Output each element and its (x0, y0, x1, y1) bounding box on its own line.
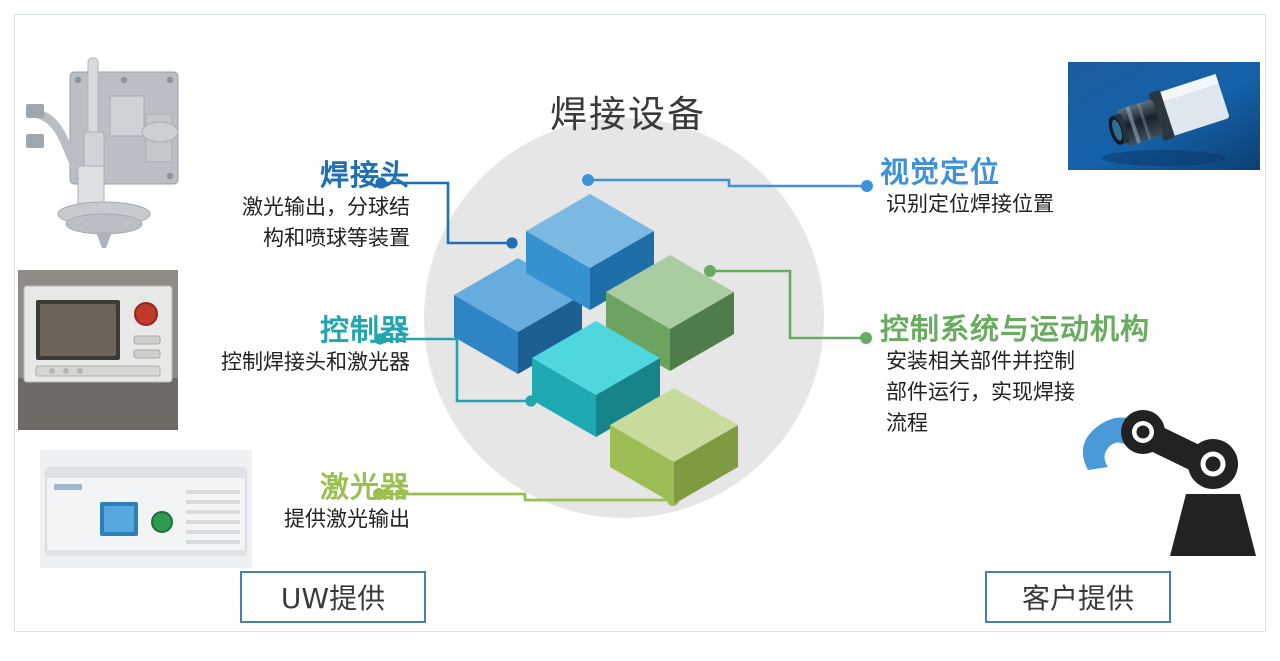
node-desc-welding-head-line2: 构和喷球等装置 (150, 223, 410, 254)
node-desc-welding-head-line1: 激光输出，分球结 (150, 192, 410, 223)
node-label-laser-source: 激光器 提供激光输出 (150, 470, 410, 535)
legend-uw-provided-label: UW提供 (281, 577, 385, 617)
legend-customer-provided-label: 客户提供 (1022, 577, 1134, 617)
legend-uw-provided[interactable]: UW提供 (240, 571, 426, 623)
connector-vision (582, 174, 873, 192)
node-heading-control-system-motion: 控制系统与运动机构 (880, 312, 1250, 346)
node-desc-motion-line2: 部件运行，实现焊接 (880, 377, 1250, 408)
node-desc-motion-line3: 流程 (880, 408, 1250, 439)
node-heading-vision-positioning: 视觉定位 (880, 155, 1210, 189)
connector-laser (373, 488, 679, 506)
node-label-vision-positioning: 视觉定位 识别定位焊接位置 (880, 155, 1210, 220)
legend-customer-provided[interactable]: 客户提供 (985, 571, 1171, 623)
node-desc-vision-line1: 识别定位焊接位置 (880, 189, 1210, 220)
node-desc-controller-line1: 控制焊接头和激光器 (150, 347, 410, 378)
node-heading-controller: 控制器 (150, 313, 410, 347)
node-label-controller: 控制器 控制焊接头和激光器 (150, 313, 410, 378)
node-label-control-system-motion: 控制系统与运动机构 安装相关部件并控制 部件运行，实现焊接 流程 (880, 312, 1250, 439)
node-desc-motion-line1: 安装相关部件并控制 (880, 346, 1250, 377)
node-desc-laser-source-line1: 提供激光输出 (150, 504, 410, 535)
node-heading-welding-head: 焊接头 (150, 158, 410, 192)
diagram-canvas: 焊接设备 (0, 0, 1280, 661)
node-heading-laser-source: 激光器 (150, 470, 410, 504)
node-label-welding-head: 焊接头 激光输出，分球结 构和喷球等装置 (150, 158, 410, 254)
